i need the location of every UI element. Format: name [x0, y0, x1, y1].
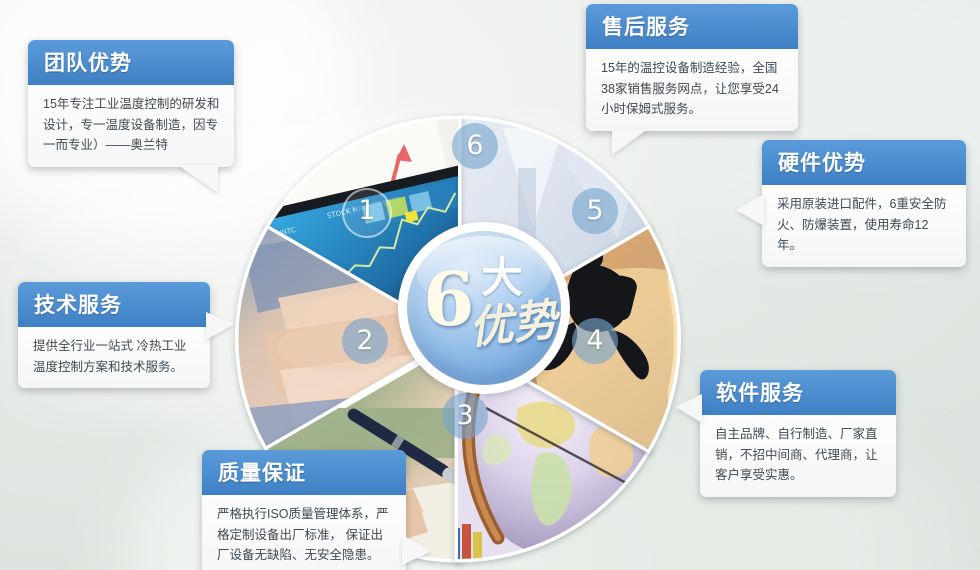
- card-title-technical: 技术服务: [18, 282, 210, 327]
- card-body-software: 自主品牌、自行制造、厂家直销，不招中间商、代理商，让客户享受实惠。: [700, 415, 896, 497]
- card-title-after-sales: 售后服务: [586, 4, 798, 49]
- card-title-software: 软件服务: [700, 370, 896, 415]
- card-body-hardware: 采用原装进口配件，6重安全防火、防爆装置，使用寿命12年。: [762, 185, 966, 267]
- card-body-quality: 严格执行ISO质量管理体系，严格定制设备出厂标准， 保证出厂设备无缺陷、无安全隐…: [202, 495, 406, 570]
- center-number: 6: [423, 263, 475, 337]
- card-body-technical: 提供全行业一站式 冷热工业温度控制方案和技术服务。: [18, 327, 210, 388]
- callout-card-software[interactable]: 软件服务 自主品牌、自行制造、厂家直销，不招中间商、代理商，让客户享受实惠。: [700, 370, 896, 497]
- card-tail: [402, 535, 432, 565]
- card-body-after-sales: 15年的温控设备制造经验，全国38家销售服务网点，让您享受24小时保姆式服务。: [586, 49, 798, 131]
- segment-badge-6[interactable]: 6: [452, 123, 498, 169]
- callout-card-quality[interactable]: 质量保证 严格执行ISO质量管理体系，严格定制设备出厂标准， 保证出厂设备无缺陷…: [202, 450, 406, 570]
- segment-badge-2[interactable]: 2: [342, 318, 388, 364]
- card-tail: [676, 394, 702, 423]
- card-title-team: 团队优势: [28, 40, 234, 85]
- card-title-hardware: 硬件优势: [762, 140, 966, 185]
- card-tail: [612, 129, 648, 155]
- center-hub: 6 大 优势: [398, 222, 570, 394]
- card-tail: [206, 312, 234, 340]
- card-title-quality: 质量保证: [202, 450, 406, 495]
- segment-badge-1[interactable]: 1: [342, 188, 392, 238]
- callout-card-technical[interactable]: 技术服务 提供全行业一站式 冷热工业温度控制方案和技术服务。: [18, 282, 210, 388]
- center-big-word: 大: [481, 257, 523, 299]
- segment-badge-5[interactable]: 5: [572, 188, 618, 234]
- center-hub-inner: 6 大 优势: [407, 231, 561, 385]
- callout-card-team[interactable]: 团队优势 15年专注工业温度控制的研发和设计，专一温度设备制造，因专一而专业）—…: [28, 40, 234, 167]
- infographic-canvas: INTC STOCK MARKET DATA: [0, 0, 980, 570]
- callout-card-after-sales[interactable]: 售后服务 15年的温控设备制造经验，全国38家销售服务网点，让您享受24小时保姆…: [586, 4, 798, 131]
- center-script-word: 优势: [467, 299, 559, 352]
- callout-card-hardware[interactable]: 硬件优势 采用原装进口配件，6重安全防火、防爆装置，使用寿命12年。: [762, 140, 966, 267]
- card-tail: [736, 194, 764, 226]
- segment-badge-4[interactable]: 4: [572, 318, 618, 364]
- segment-badge-3[interactable]: 3: [442, 393, 488, 439]
- card-body-team: 15年专注工业温度控制的研发和设计，专一温度设备制造，因专一而专业）——奥兰特: [28, 85, 234, 167]
- card-tail: [178, 165, 218, 193]
